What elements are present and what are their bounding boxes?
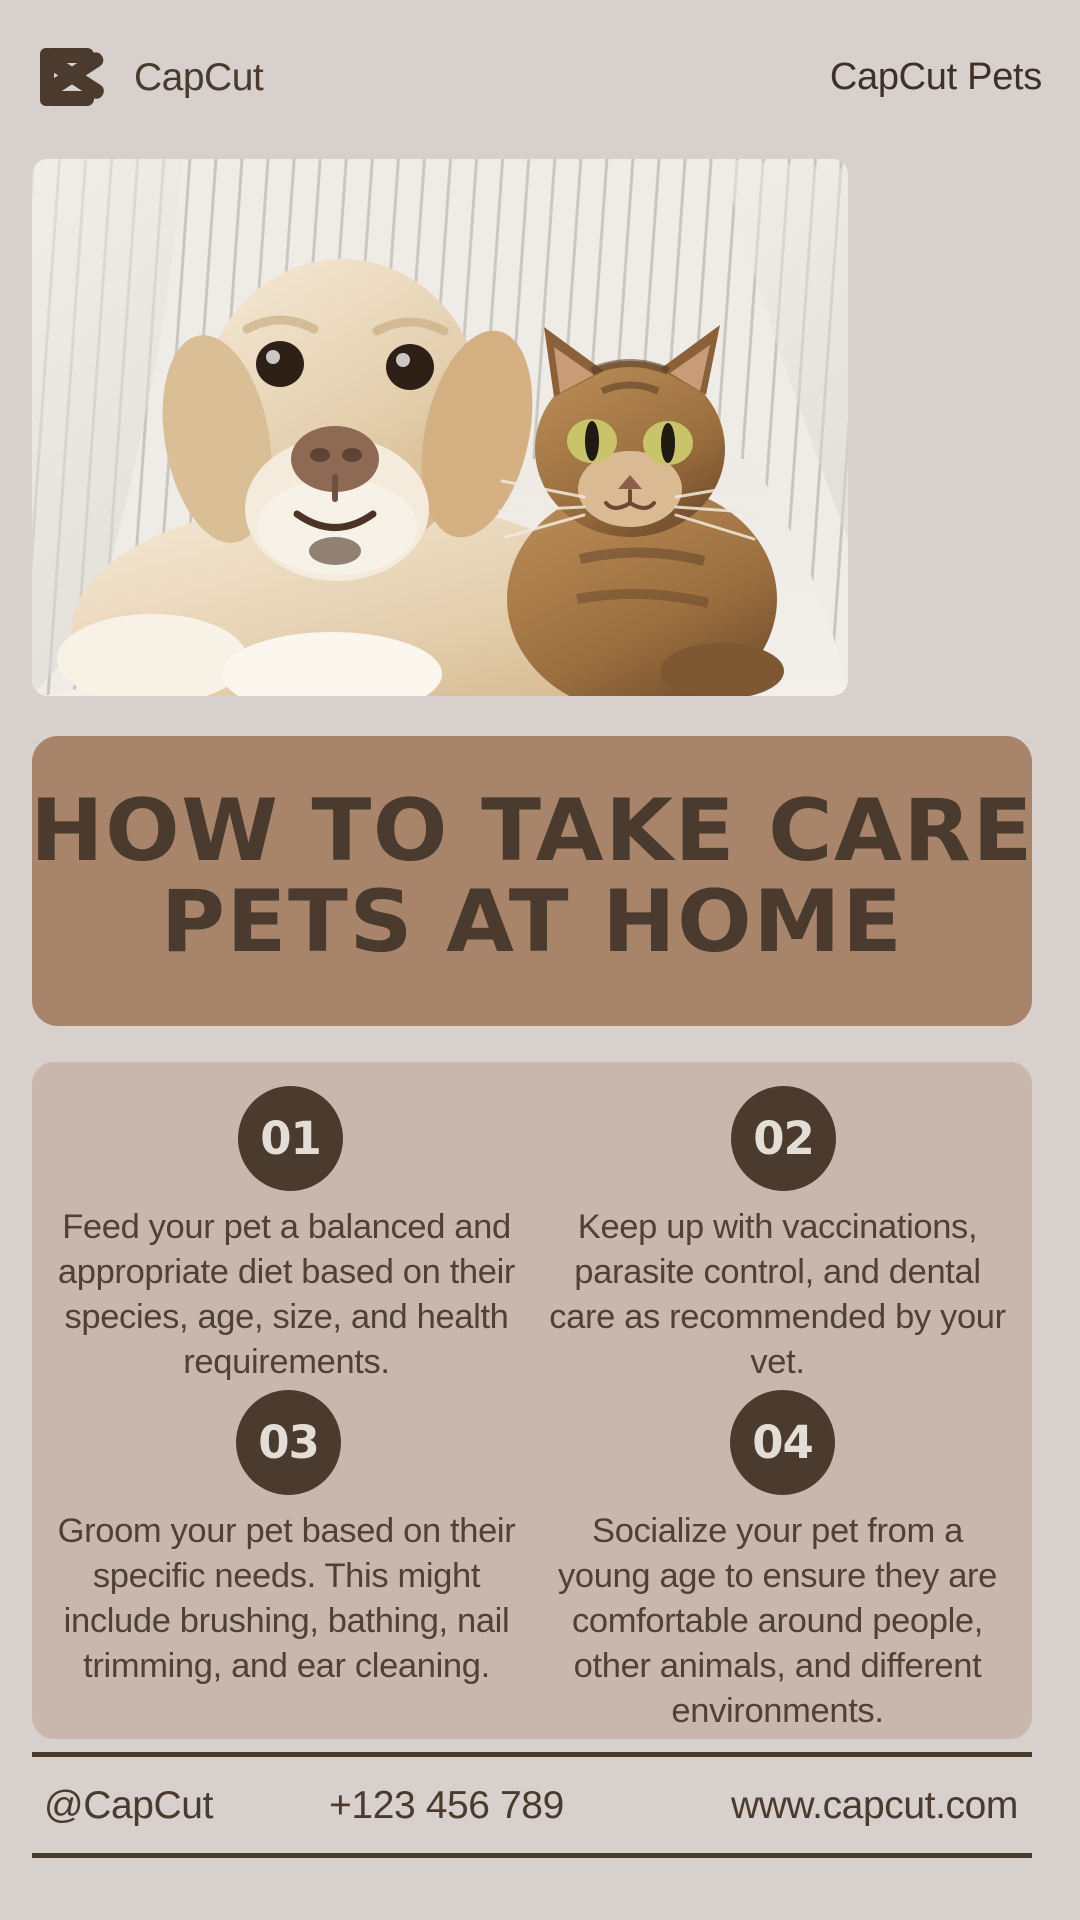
hero-photo-illustration [32,159,848,696]
step-item-04: 04 Socialize your pet from a young age t… [545,1390,1010,1733]
step-text-04: Socialize your pet from a young age to e… [545,1509,1010,1733]
title-line-1: HOW TO TAKE CARE [30,786,1034,877]
steps-card: 01 Feed your pet a balanced and appropri… [32,1062,1032,1739]
header: CapCut CapCut Pets [0,42,1080,112]
step-text-02: Keep up with vaccinations, parasite cont… [545,1205,1010,1384]
hero-photo [32,159,848,696]
brand-lockup: CapCut [38,46,263,108]
step-item-01: 01 Feed your pet a balanced and appropri… [54,1086,519,1384]
step-badge-01: 01 [238,1086,343,1191]
infographic-poster: CapCut CapCut Pets [0,0,1080,1920]
step-badge-04: 04 [730,1390,835,1495]
footer-website[interactable]: www.capcut.com [731,1786,1018,1825]
step-text-03: Groom your pet based on their specific n… [54,1509,519,1688]
step-number-03: 03 [258,1420,319,1465]
capcut-hourglass-logo-icon [38,46,114,108]
footer: @CapCut +123 456 789 www.capcut.com [32,1752,1032,1858]
step-number-01: 01 [260,1116,321,1161]
step-number-04: 04 [752,1420,813,1465]
step-number-02: 02 [753,1116,814,1161]
step-badge-02: 02 [731,1086,836,1191]
brand-name: CapCut [134,58,263,97]
header-right-label: CapCut Pets [830,58,1042,96]
step-item-03: 03 Groom your pet based on their specifi… [54,1390,519,1733]
title-banner: HOW TO TAKE CARE PETS AT HOME [32,736,1032,1026]
step-item-02: 02 Keep up with vaccinations, parasite c… [545,1086,1010,1384]
footer-phone[interactable]: +123 456 789 [329,1786,564,1825]
step-text-01: Feed your pet a balanced and appropriate… [54,1205,519,1384]
step-badge-03: 03 [236,1390,341,1495]
title-line-2: PETS AT HOME [161,877,904,968]
footer-divider-bottom [32,1853,1032,1858]
footer-social-handle[interactable]: @CapCut [44,1786,213,1825]
footer-contact-row: @CapCut +123 456 789 www.capcut.com [32,1757,1032,1853]
